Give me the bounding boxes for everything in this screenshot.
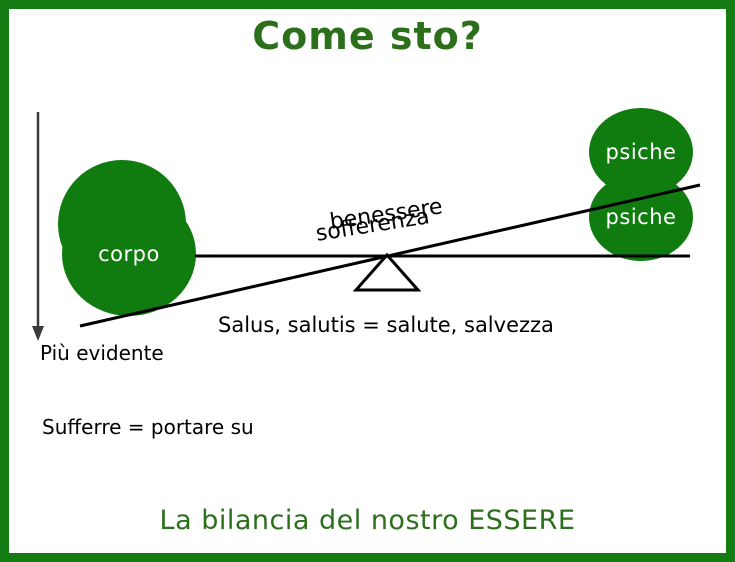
- label-salus-etymology: Salus, salutis = salute, salvezza: [218, 313, 554, 337]
- diagram-vector-layer: [0, 0, 735, 562]
- label-sufferre-etymology: Sufferre = portare su: [42, 415, 254, 439]
- label-piu-evidente: Più evidente: [40, 341, 164, 365]
- slide-caption: La bilancia del nostro ESSERE: [0, 505, 735, 536]
- slide-canvas: Come sto? corpo psiche psiche benessere …: [0, 0, 735, 562]
- down-arrow-head-icon: [32, 326, 44, 341]
